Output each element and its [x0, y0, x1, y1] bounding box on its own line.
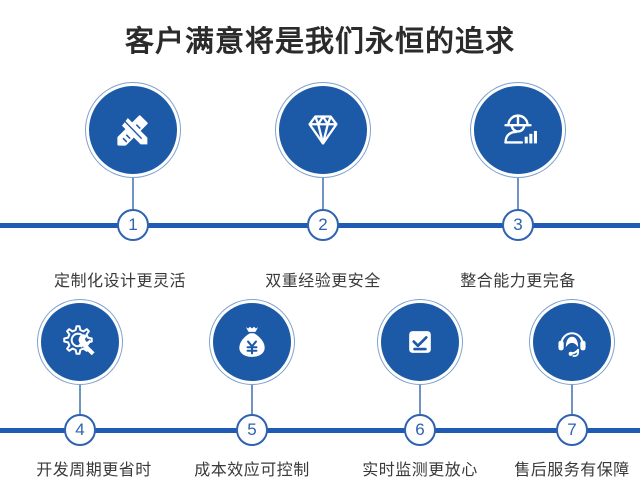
step-number-6[interactable]: 6 [404, 414, 436, 446]
icon-disc-1[interactable] [89, 86, 177, 174]
infographic-canvas: 客户满意将是我们永恒的追求 1 定制化设计 [0, 0, 640, 500]
headset-support-icon [551, 321, 593, 363]
icon-disc-2[interactable] [279, 86, 367, 174]
step-number-4[interactable]: 4 [64, 414, 96, 446]
ruler-pencil-icon [110, 107, 156, 153]
step-number-2[interactable]: 2 [307, 209, 339, 241]
icon-disc-7[interactable] [533, 303, 611, 381]
engineer-chart-icon [495, 107, 541, 153]
icon-disc-4[interactable] [41, 303, 119, 381]
gear-wrench-icon [59, 321, 101, 363]
diamond-icon [300, 107, 346, 153]
item-label-1: 定制化设计更灵活 [30, 267, 210, 291]
page-title: 客户满意将是我们永恒的追求 [0, 18, 640, 60]
step-number-3[interactable]: 3 [502, 209, 534, 241]
step-number-7[interactable]: 7 [556, 414, 588, 446]
item-label-5: 开发周期更省时 [4, 456, 184, 480]
item-label-4-clipped: 关 [636, 267, 640, 291]
item-label-6: 成本效应可控制 [162, 456, 342, 480]
icon-disc-3[interactable] [474, 86, 562, 174]
checkbox-icon [400, 322, 440, 362]
item-label-2: 双重经验更安全 [233, 267, 413, 291]
step-number-5[interactable]: 5 [236, 414, 268, 446]
item-label-8: 售后服务有保障 [482, 456, 640, 480]
icon-disc-5[interactable] [213, 303, 291, 381]
timeline-rail-bottom [0, 428, 640, 433]
icon-disc-6[interactable] [381, 303, 459, 381]
money-bag-yen-icon [231, 321, 273, 363]
step-number-1[interactable]: 1 [117, 209, 149, 241]
item-label-3: 整合能力更完备 [428, 267, 608, 291]
